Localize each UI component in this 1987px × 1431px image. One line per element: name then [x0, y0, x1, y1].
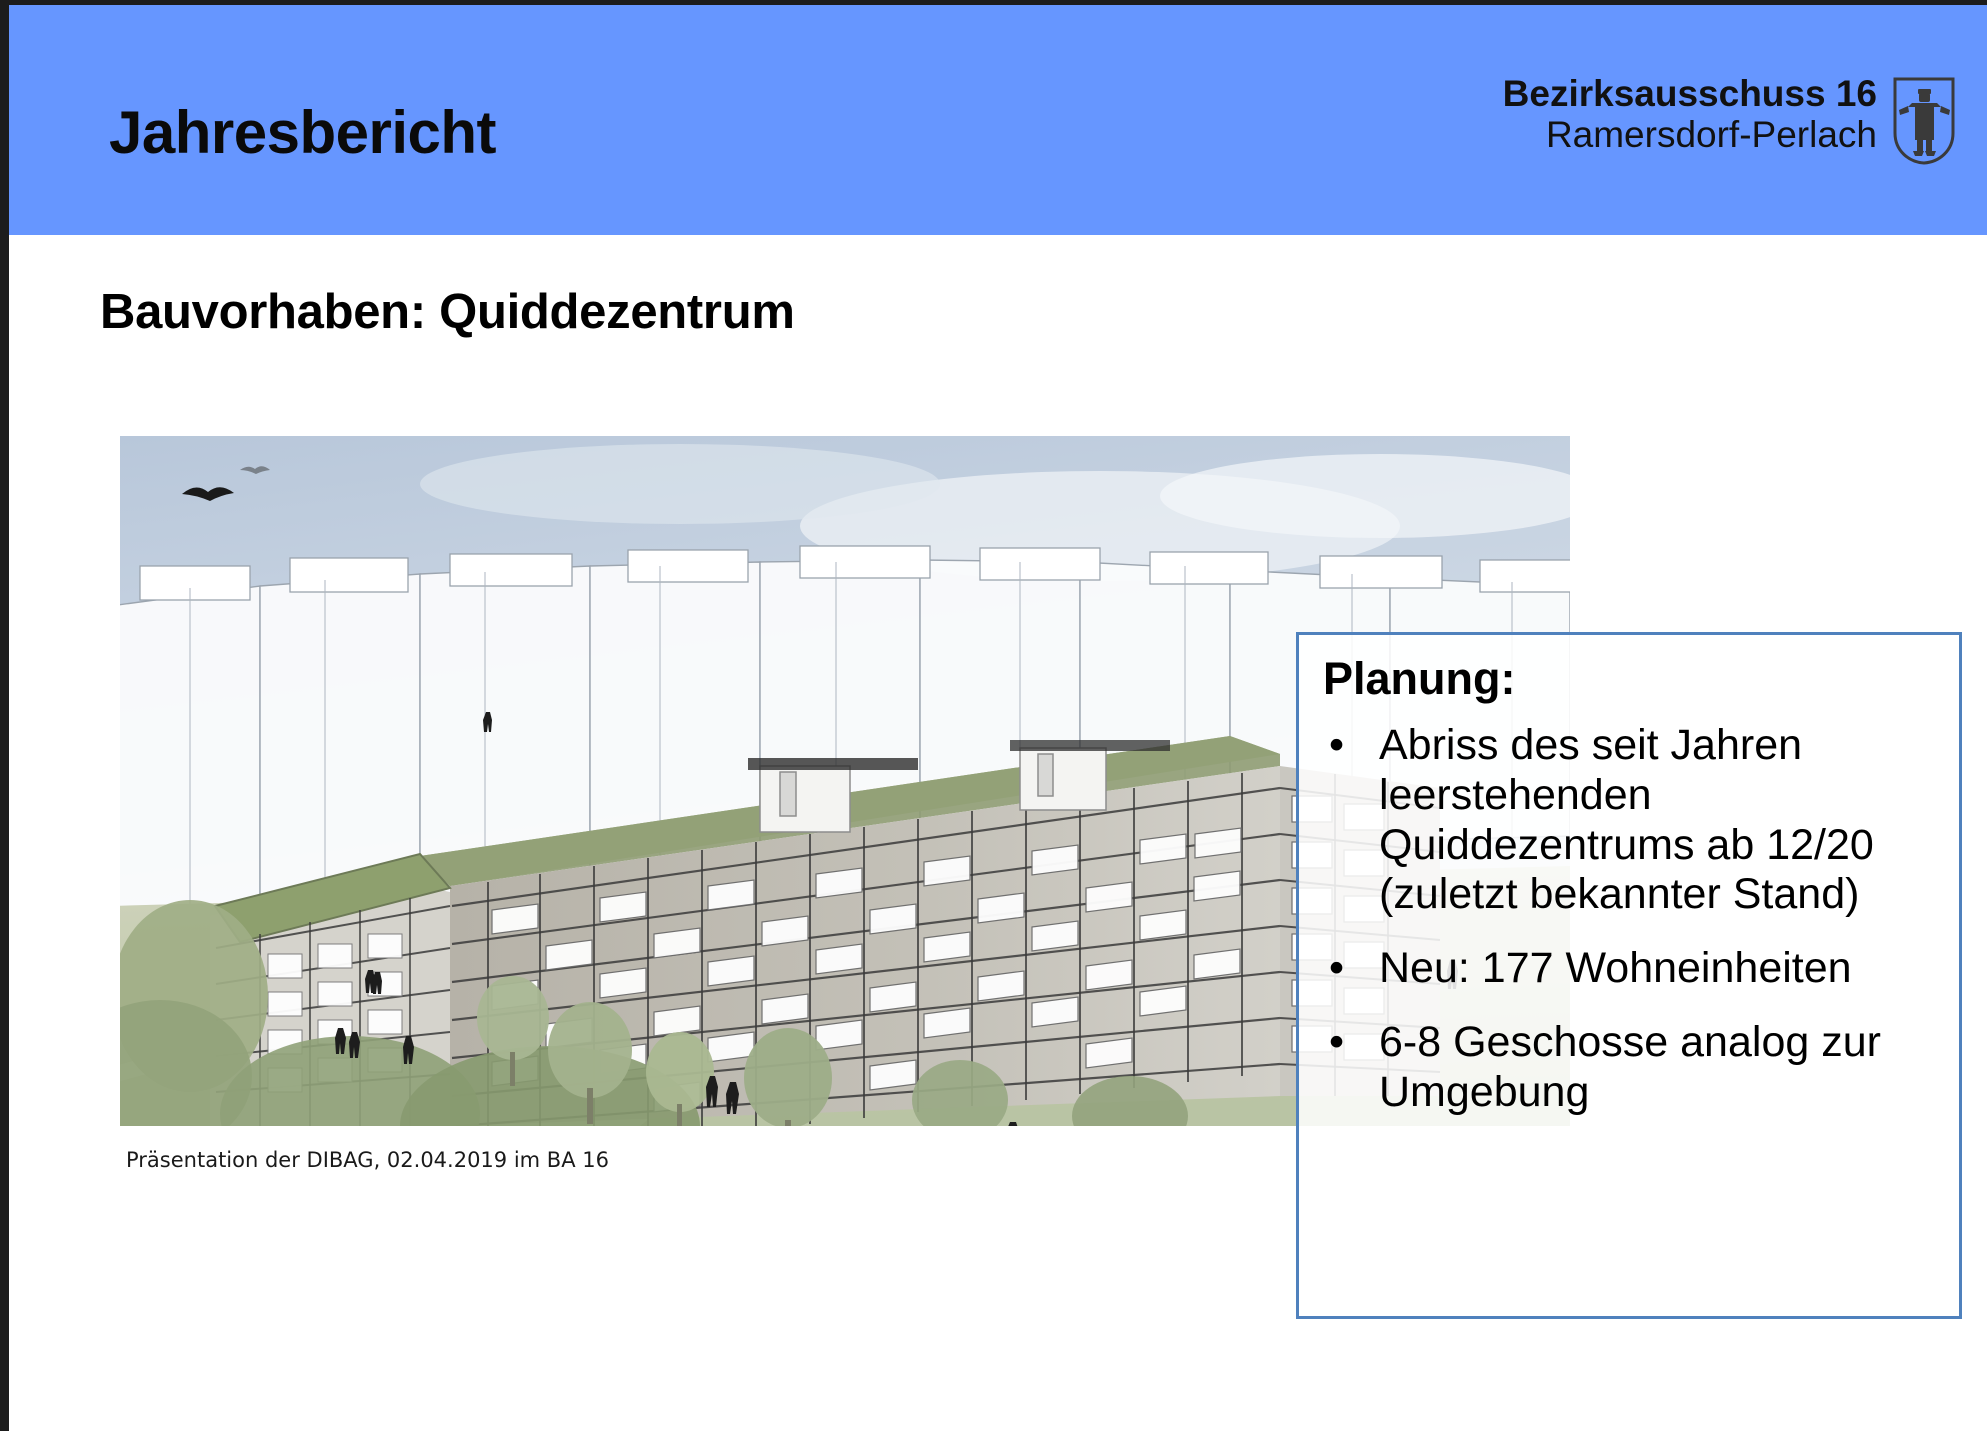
callout-bullet-list: • Abriss des seit Jahren leerstehenden Q…	[1323, 721, 1933, 1118]
list-item: • Abriss des seit Jahren leerstehenden Q…	[1323, 721, 1933, 921]
organization-block: Bezirksausschuss 16 Ramersdorf-Perlach	[1503, 73, 1877, 156]
callout-heading: Planung:	[1323, 653, 1933, 705]
planning-callout-box: Planung: • Abriss des seit Jahren leerst…	[1296, 632, 1962, 1319]
list-item-text: Neu: 177 Wohneinheiten	[1379, 944, 1852, 992]
list-item-text: 6-8 Geschosse analog zur Umgebung	[1379, 1018, 1881, 1116]
list-item: • 6-8 Geschosse analog zur Umgebung	[1323, 1018, 1933, 1118]
figure-caption: Präsentation der DIBAG, 02.04.2019 im BA…	[126, 1148, 609, 1172]
organization-name: Bezirksausschuss 16	[1503, 73, 1877, 114]
slide-header-band: Jahresbericht Bezirksausschuss 16 Ramers…	[9, 5, 1987, 235]
presentation-title: Jahresbericht	[109, 103, 496, 163]
presentation-slide: Jahresbericht Bezirksausschuss 16 Ramers…	[0, 0, 1987, 1431]
left-edge-strip	[0, 0, 9, 1431]
organization-district: Ramersdorf-Perlach	[1503, 114, 1877, 155]
bullet-glyph: •	[1329, 721, 1344, 771]
slide-heading: Bauvorhaben: Quiddezentrum	[100, 284, 795, 340]
list-item: • Neu: 177 Wohneinheiten	[1323, 944, 1933, 994]
bullet-glyph: •	[1329, 944, 1344, 994]
bullet-glyph: •	[1329, 1018, 1344, 1068]
list-item-text: Abriss des seit Jahren leerstehenden Qui…	[1379, 721, 1874, 919]
muenchner-kindl-coat-of-arms-icon	[1893, 77, 1955, 165]
